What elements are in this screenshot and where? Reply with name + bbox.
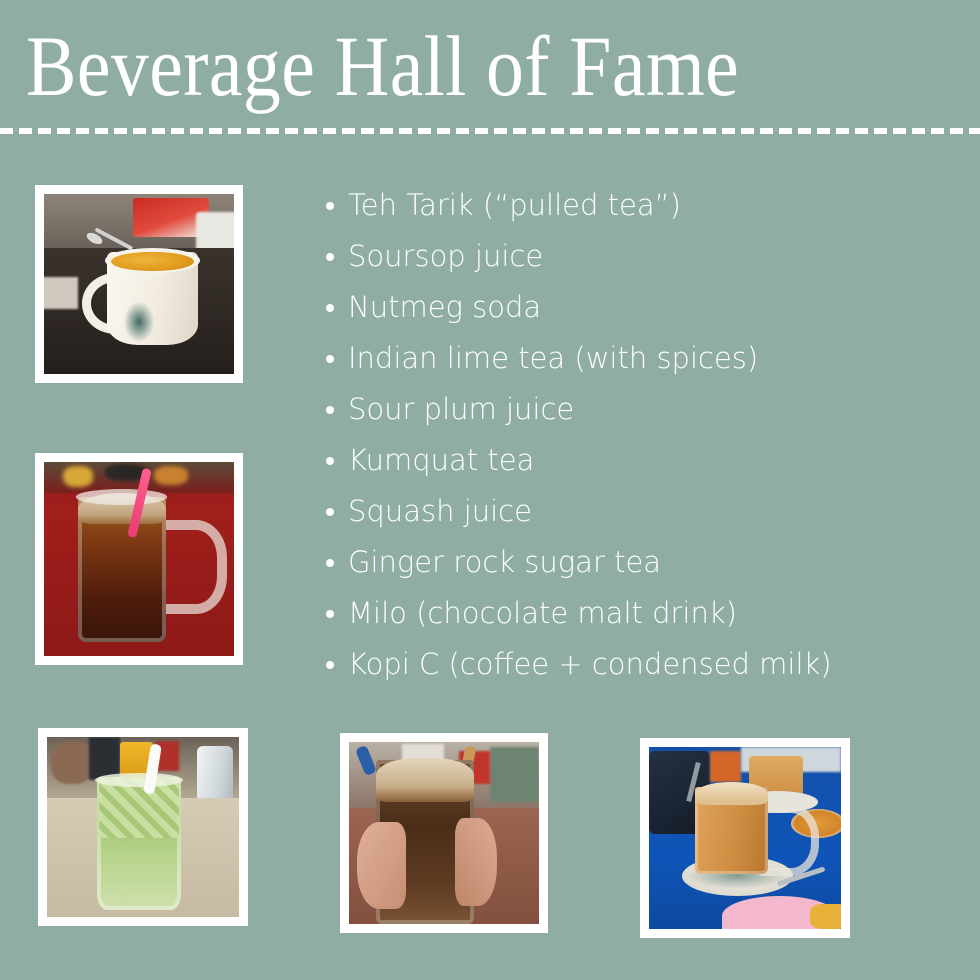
bullet-icon <box>326 304 334 312</box>
list-item: Milo (chocolate malt drink) <box>318 588 958 639</box>
list-item-label: Teh Tarik (“pulled tea”) <box>348 188 681 222</box>
slide-canvas: Beverage Hall of Fame Teh Tarik (“pulled… <box>0 0 980 980</box>
list-item-label: Ginger rock sugar tea <box>348 545 661 579</box>
list-item-label: Milo (chocolate malt drink) <box>348 596 737 630</box>
bullet-icon <box>326 355 334 363</box>
list-item-label: Squash juice <box>348 494 532 528</box>
list-item-label: Kopi C (coffee + condensed milk) <box>348 647 832 681</box>
bullet-icon <box>326 457 334 465</box>
iced-milo-photo-frame <box>340 733 548 933</box>
page-title: Beverage Hall of Fame <box>26 16 836 116</box>
list-item-label: Indian lime tea (with spices) <box>348 341 758 375</box>
bullet-icon <box>326 202 334 210</box>
beverage-list: Teh Tarik (“pulled tea”) Soursop juice N… <box>318 180 958 690</box>
bullet-icon <box>326 559 334 567</box>
teh-tarik-mug-photo-frame <box>35 185 243 383</box>
iced-tea-photo-frame <box>35 453 243 665</box>
iced-tea-photo <box>44 462 234 656</box>
bullet-icon <box>326 610 334 618</box>
bullet-icon <box>326 661 334 669</box>
dashed-divider <box>0 128 980 134</box>
teh-tarik-saucer-photo <box>649 747 841 929</box>
list-item-label: Soursop juice <box>348 239 543 273</box>
list-item: Squash juice <box>318 486 958 537</box>
list-item-label: Nutmeg soda <box>348 290 541 324</box>
bullet-icon <box>326 253 334 261</box>
list-item-label: Sour plum juice <box>348 392 574 426</box>
list-item: Indian lime tea (with spices) <box>318 333 958 384</box>
list-item: Soursop juice <box>318 231 958 282</box>
list-item-label: Kumquat tea <box>348 443 534 477</box>
bullet-icon <box>326 406 334 414</box>
bullet-icon <box>326 508 334 516</box>
iced-milo-photo <box>349 742 539 924</box>
list-item: Ginger rock sugar tea <box>318 537 958 588</box>
green-drink-photo <box>47 737 239 917</box>
teh-tarik-saucer-photo-frame <box>640 738 850 938</box>
teh-tarik-mug-photo <box>44 194 234 374</box>
list-item: Teh Tarik (“pulled tea”) <box>318 180 958 231</box>
list-item: Kopi C (coffee + condensed milk) <box>318 639 958 690</box>
list-item: Kumquat tea <box>318 435 958 486</box>
list-item: Nutmeg soda <box>318 282 958 333</box>
green-drink-photo-frame <box>38 728 248 926</box>
list-item: Sour plum juice <box>318 384 958 435</box>
